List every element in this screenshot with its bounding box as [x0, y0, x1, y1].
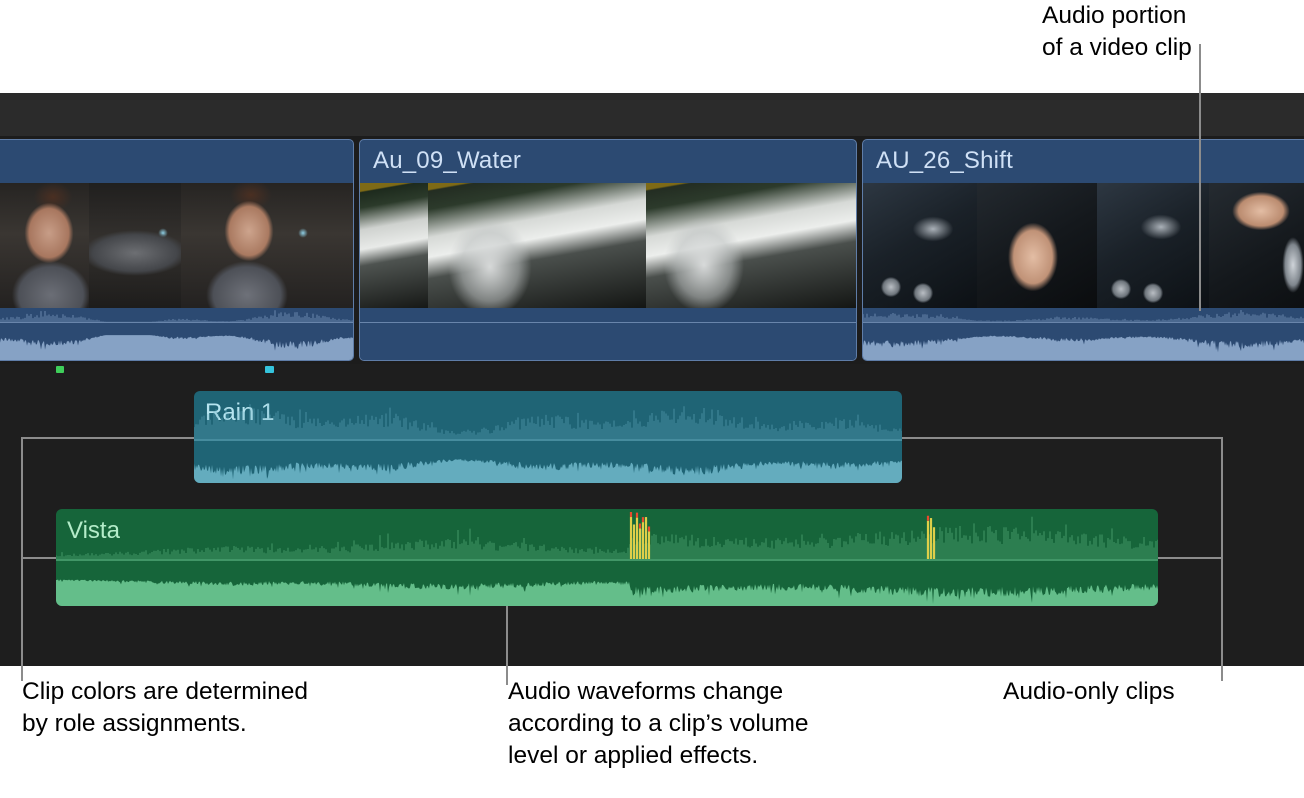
thumbnail — [977, 183, 1097, 310]
waveform-path — [863, 308, 1304, 360]
thumbnail — [428, 183, 646, 310]
clip-title: Au_09_Water — [373, 147, 521, 175]
waveform-midline — [360, 322, 856, 323]
timeline-marker-green[interactable] — [56, 366, 64, 373]
thumbnail — [1209, 183, 1304, 310]
annotation-clip-colors-roles: Clip colors are determined by role assig… — [22, 676, 442, 740]
thumbnail — [1097, 183, 1209, 310]
annotation-audio-waveforms-change: Audio waveforms change according to a cl… — [508, 676, 928, 772]
audio-clip-vista[interactable]: Vista — [56, 509, 1158, 606]
clip-audio-waveform — [863, 308, 1304, 360]
audio-clip-rain-1[interactable]: Rain 1 — [194, 391, 902, 483]
annotation-audio-only-clips: Audio-only clips — [1003, 676, 1263, 708]
leader-line-top-vertical — [1199, 44, 1201, 311]
thumbnail — [863, 183, 977, 310]
thumbnail — [360, 183, 428, 310]
leader-line-bracket-top-left — [22, 437, 196, 439]
leader-line-bracket-mid-left — [22, 557, 58, 559]
video-clip-interview[interactable] — [0, 139, 354, 361]
leader-line-right-vertical — [1221, 437, 1223, 681]
clip-audio-waveform — [360, 308, 856, 360]
leader-line-bracket-mid-right — [1157, 557, 1223, 559]
clip-title: AU_26_Shift — [876, 147, 1013, 175]
waveform-path — [56, 509, 1158, 606]
timeline-top-strip — [0, 93, 1304, 136]
thumbnail — [646, 183, 857, 310]
waveform-midline — [863, 322, 1304, 323]
clip-audio-waveform — [0, 308, 353, 360]
thumbnail — [0, 183, 89, 310]
waveform-path — [194, 391, 902, 483]
timeline-marker-cyan[interactable] — [265, 366, 274, 373]
video-clip-au-26-shift[interactable]: AU_26_Shift — [862, 139, 1304, 361]
clip-thumbnails — [863, 183, 1304, 310]
annotation-audio-portion-of-video-clip: Audio portion of a video clip — [1042, 0, 1292, 64]
video-clip-au-09-water[interactable]: Au_09_Water — [359, 139, 857, 361]
thumbnail — [181, 183, 354, 310]
waveform-path — [0, 308, 354, 360]
clip-thumbnails — [360, 183, 856, 310]
leader-line-left-vertical — [21, 437, 23, 681]
clip-thumbnails — [0, 183, 353, 310]
leader-line-bracket-top-right — [901, 437, 1223, 439]
waveform-midline — [0, 322, 353, 323]
timeline-diagram: Au_09_Water AU_26_Shift — [0, 0, 1304, 798]
thumbnail — [89, 183, 181, 310]
